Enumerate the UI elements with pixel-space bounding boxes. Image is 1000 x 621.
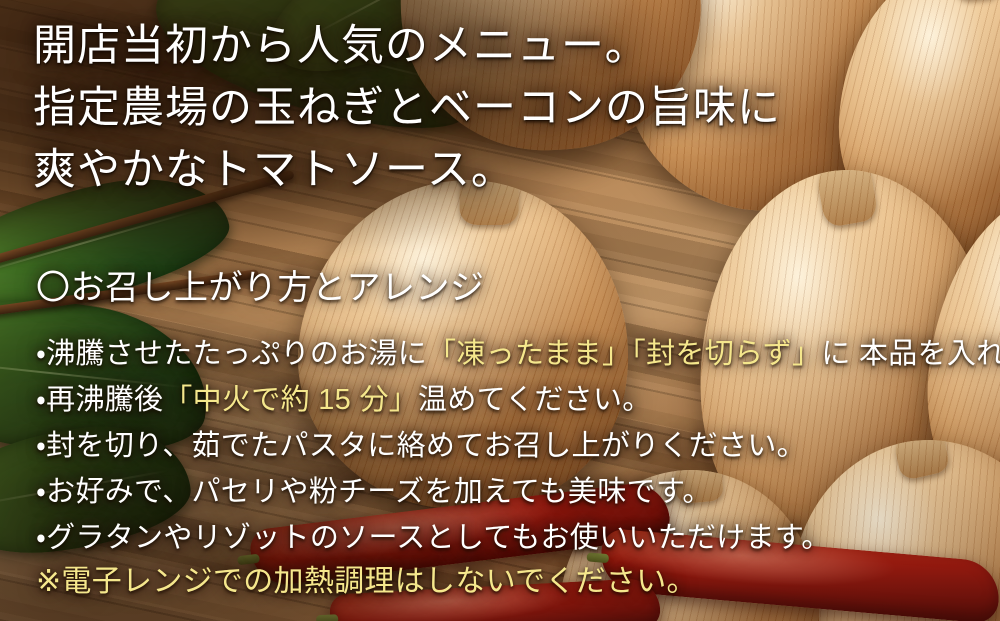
headline: 開店当初から人気のメニュー。指定農場の玉ねぎとベーコンの旨味に爽やかなトマトソー… — [33, 16, 973, 202]
plain-text: ・沸騰させたたっぷりのお湯に — [36, 338, 427, 370]
instruction-line-3: ・封を切り、茹でたパスタに絡めてお召し上がりください。 — [36, 423, 986, 469]
plain-text: ・再沸騰後 — [36, 384, 163, 416]
instruction-line-1: ・沸騰させたたっぷりのお湯に「凍ったまま」「封を切らず」に 本品を入れます。 — [36, 331, 986, 377]
plain-text: ・封を切り、茹でたパスタに絡めてお召し上がりください。 — [36, 430, 806, 462]
highlighted-text: 「凍ったまま」「封を切らず」 — [427, 338, 821, 370]
product-banner: 開店当初から人気のメニュー。指定農場の玉ねぎとベーコンの旨味に爽やかなトマトソー… — [0, 0, 1000, 621]
text-content: 開店当初から人気のメニュー。指定農場の玉ねぎとベーコンの旨味に爽やかなトマトソー… — [0, 0, 1000, 621]
section-title: 〇お召し上がり方とアレンジ — [36, 268, 485, 308]
plain-text: 温めてください。 — [418, 384, 652, 416]
plain-text: ・お好みで、パセリや粉チーズを加えても美味です。 — [36, 476, 712, 508]
headline-line-1: 開店当初から人気のメニュー。 — [33, 16, 973, 78]
instruction-line-2: ・再沸騰後「中火で約 15 分」温めてください。 — [36, 377, 986, 423]
headline-line-2: 指定農場の玉ねぎとベーコンの旨味に — [33, 78, 973, 140]
instruction-line-5: ・グラタンやリゾットのソースとしてもお使いいただけます。 — [36, 515, 986, 561]
plain-text: に 本品を入れます。 — [821, 338, 1000, 370]
instruction-list: ・沸騰させたたっぷりのお湯に「凍ったまま」「封を切らず」に 本品を入れます。・再… — [36, 331, 986, 561]
instruction-line-4: ・お好みで、パセリや粉チーズを加えても美味です。 — [36, 469, 986, 515]
headline-line-3: 爽やかなトマトソース。 — [33, 140, 973, 202]
caution-note: ※電子レンジでの加熱調理はしないでください。 — [36, 561, 697, 603]
plain-text: ・グラタンやリゾットのソースとしてもお使いいただけます。 — [36, 522, 831, 554]
highlighted-text: 「中火で約 15 分」 — [163, 384, 418, 416]
